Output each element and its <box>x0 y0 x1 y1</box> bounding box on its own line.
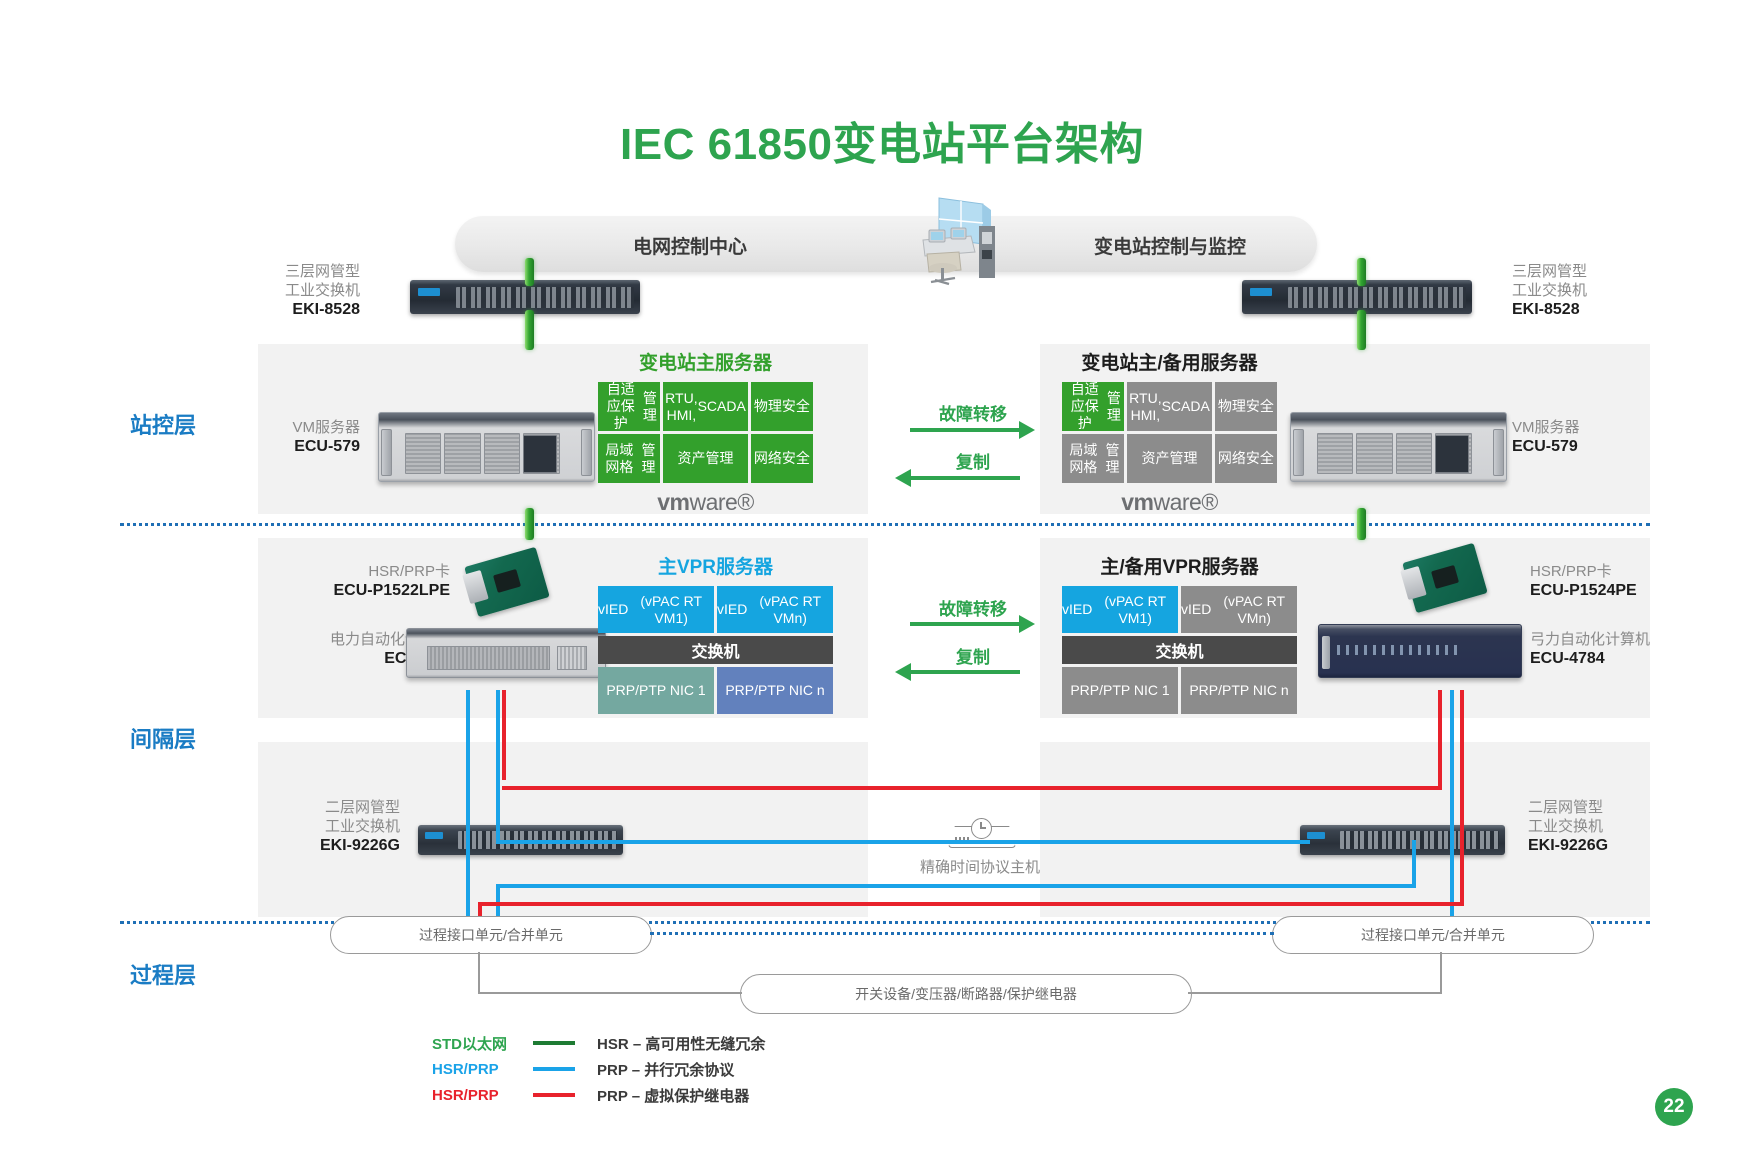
rack-ear <box>1322 636 1330 668</box>
nic-cell-1-right: PRP/PTP NIC 1 <box>1062 667 1178 714</box>
process-equipment-box: 开关设备/变压器/断路器/保护继电器 <box>740 974 1192 1014</box>
hsr-prp-card-right <box>1408 552 1482 604</box>
cable-red-upper-bus <box>502 786 1442 790</box>
process-interface-unit-right: 过程接口单元/合并单元 <box>1272 916 1594 954</box>
clock-face-icon <box>971 818 992 839</box>
cable-blue-left-vertical-2 <box>496 690 500 844</box>
station-server-title-left: 变电站主服务器 <box>598 348 813 375</box>
legend-line-swatch <box>533 1093 575 1097</box>
station-app-cell-2: RTU, HMI,SCADA <box>1127 382 1212 431</box>
rack-ear <box>381 429 392 475</box>
legend-row-3: HSR/PRPPRP – 虚拟保护继电器 <box>432 1082 765 1108</box>
device-label-eki9226g-right: 二层网管型 工业交换机 EKI-9226G <box>1528 798 1678 855</box>
station-app-cell-3: 物理安全 <box>1215 382 1277 431</box>
station-app-cell-3: 物理安全 <box>751 382 813 431</box>
legend: STD以太网HSR – 高可用性无缝冗余HSR/PRPPRP – 并行冗余协议H… <box>432 1030 765 1108</box>
port-array <box>1288 287 1466 308</box>
green-link-switch-right <box>1357 310 1366 350</box>
legend-row-1: STD以太网HSR – 高可用性无缝冗余 <box>432 1030 765 1056</box>
brand-mark <box>425 832 443 839</box>
legend-text: PRP – 虚拟保护继电器 <box>597 1085 749 1106</box>
hsr-prp-card-left <box>470 556 544 608</box>
status-panel <box>523 435 557 473</box>
bay-failover-arrow <box>910 622 1020 626</box>
brand-mark <box>1307 832 1325 839</box>
vied-cell-n-left: vIED(vPAC RT VMn) <box>717 586 833 633</box>
port-array <box>1340 831 1499 849</box>
link-unit-left-to-equipment-v <box>478 952 480 993</box>
device-label-eki8528-right: 三层网管型 工业交换机 EKI-8528 <box>1512 262 1652 319</box>
green-link-switch-left <box>525 310 534 350</box>
layer-label-process: 过程层 <box>130 958 196 990</box>
station-server-box-right: 变电站主/备用服务器 自适应保护管理RTU, HMI,SCADA物理安全局域网格… <box>1062 348 1277 516</box>
green-link-bay-left <box>525 508 534 540</box>
station-failover-arrow <box>910 428 1020 432</box>
station-app-cell-4: 局域网格管理 <box>1062 434 1124 483</box>
station-app-cell-4: 局域网格管理 <box>598 434 660 483</box>
vied-cell-1-left: vIED(vPAC RT VM1) <box>598 586 714 633</box>
vpr-switch-bar-left: 交换机 <box>598 636 833 664</box>
vpr-title-left: 主VPR服务器 <box>598 552 833 579</box>
station-app-cell-6: 网络安全 <box>751 434 813 483</box>
control-room-illustration <box>905 196 1015 286</box>
bay-replicate-label: 复制 <box>898 643 1048 668</box>
cable-red-right-riser <box>1438 690 1442 790</box>
device-label-ecu4784-right: 弓力自动化计算机 ECU-4784 <box>1530 630 1715 668</box>
link-unit-right-to-equipment-h <box>1188 992 1442 994</box>
legend-tag: HSR/PRP <box>432 1061 527 1078</box>
banner-label-substation-monitor: 变电站控制与监控 <box>1010 232 1330 259</box>
led-row <box>1337 645 1462 655</box>
cable-blue-right-vertical <box>1450 690 1454 920</box>
nic-cell-1-left: PRP/PTP NIC 1 <box>598 667 714 714</box>
banner-label-control-center: 电网控制中心 <box>560 232 820 259</box>
vpr-switch-bar-right: 交换机 <box>1062 636 1297 664</box>
device-label-nic-left: HSR/PRP卡 ECU-P1522LPE <box>300 562 450 600</box>
green-link-top-right <box>1357 258 1366 286</box>
switch-eki9226g-right <box>1300 825 1505 855</box>
port-array <box>456 287 634 308</box>
vpr-box-right: 主/备用VPR服务器 vIED(vPAC RT VM1) vIED(vPAC R… <box>1062 552 1297 714</box>
legend-row-2: HSR/PRPPRP – 并行冗余协议 <box>432 1056 765 1082</box>
cable-blue-left-to-switch <box>496 840 626 844</box>
server-ecu579-right <box>1290 412 1507 482</box>
cable-blue-lower-bus <box>496 884 1416 888</box>
station-server-cells-left: 自适应保护管理RTU, HMI,SCADA物理安全局域网格管理资产管理网络安全 <box>598 382 813 483</box>
legend-line-swatch <box>533 1041 575 1045</box>
station-server-title-right: 变电站主/备用服务器 <box>1062 348 1277 375</box>
station-app-cell-6: 网络安全 <box>1215 434 1277 483</box>
side-fins <box>557 646 587 670</box>
rack-ear <box>581 429 592 475</box>
brand-mark <box>1250 288 1272 296</box>
vpr-vied-row-right: vIED(vPAC RT VM1) vIED(vPAC RT VMn) <box>1062 586 1297 633</box>
legend-text: PRP – 并行冗余协议 <box>597 1059 734 1080</box>
station-app-cell-5: 资产管理 <box>663 434 748 483</box>
cable-blue-switch-interlink <box>620 840 1310 844</box>
computer-ecu4784-right <box>1318 624 1522 678</box>
station-app-cell-1: 自适应保护管理 <box>1062 382 1124 431</box>
vpr-vied-row-left: vIED(vPAC RT VM1) vIED(vPAC RT VMn) <box>598 586 833 633</box>
device-label-eki8528-left: 三层网管型 工业交换机 EKI-8528 <box>250 262 360 319</box>
station-replicate-arrow <box>910 476 1020 480</box>
bay-replicate-arrow <box>910 670 1020 674</box>
station-server-box-left: 变电站主服务器 自适应保护管理RTU, HMI,SCADA物理安全局域网格管理资… <box>598 348 813 516</box>
green-link-top-left <box>525 258 534 286</box>
rack-ear <box>1493 429 1504 475</box>
vpr-nic-row-right: PRP/PTP NIC 1 PRP/PTP NIC n <box>1062 667 1297 714</box>
device-label-ecu579-left: VM服务器 ECU-579 <box>250 418 360 456</box>
station-app-cell-1: 自适应保护管理 <box>598 382 660 431</box>
layer-label-station: 站控层 <box>130 408 196 440</box>
page-number-badge: 22 <box>1655 1088 1693 1126</box>
vied-cell-n-right: vIED(vPAC RT VMn) <box>1181 586 1297 633</box>
vmware-logo-left: vmware® <box>598 489 813 516</box>
station-app-cell-5: 资产管理 <box>1127 434 1212 483</box>
station-server-cells-right: 自适应保护管理RTU, HMI,SCADA物理安全局域网格管理资产管理网络安全 <box>1062 382 1277 483</box>
cable-blue-right-riser <box>1412 840 1416 888</box>
status-panel <box>1435 435 1469 473</box>
station-replicate-label: 复制 <box>898 448 1048 473</box>
link-unit-left-to-equipment-h <box>478 992 742 994</box>
computer-ecu479-left <box>406 628 606 678</box>
green-link-bay-right <box>1357 508 1366 540</box>
nic-cell-n-right: PRP/PTP NIC n <box>1181 667 1297 714</box>
cable-red-left-riser <box>502 690 506 780</box>
legend-tag: HSR/PRP <box>432 1087 527 1104</box>
link-unit-right-to-equipment-v <box>1440 952 1442 993</box>
device-label-ecu579-right: VM服务器 ECU-579 <box>1512 418 1652 456</box>
cable-blue-left-vertical <box>466 690 470 920</box>
cable-red-lower-bus <box>478 902 1464 906</box>
device-label-nic-right: HSR/PRP卡 ECU-P1524PE <box>1530 562 1700 600</box>
layer-label-bay: 间隔层 <box>130 722 196 754</box>
nic-cell-n-left: PRP/PTP NIC n <box>717 667 833 714</box>
process-interface-unit-left: 过程接口单元/合并单元 <box>330 916 652 954</box>
ptp-label: 精确时间协议主机 <box>880 856 1080 877</box>
server-ecu579-left <box>378 412 595 482</box>
vent-grill <box>427 646 550 670</box>
vpr-box-left: 主VPR服务器 vIED(vPAC RT VM1) vIED(vPAC RT V… <box>598 552 833 714</box>
vpr-title-right: 主/备用VPR服务器 <box>1062 552 1297 579</box>
vmware-logo-right: vmware® <box>1062 489 1277 516</box>
rack-ear <box>1293 429 1304 475</box>
device-label-eki9226g-left: 二层网管型 工业交换机 EKI-9226G <box>270 798 400 855</box>
process-bus-dotted-link <box>650 932 1274 935</box>
station-app-cell-2: RTU, HMI,SCADA <box>663 382 748 431</box>
vpr-nic-row-left: PRP/PTP NIC 1 PRP/PTP NIC n <box>598 667 833 714</box>
legend-tag: STD以太网 <box>432 1033 527 1054</box>
brand-mark <box>418 288 440 296</box>
vied-cell-1-right: vIED(vPAC RT VM1) <box>1062 586 1178 633</box>
legend-line-swatch <box>533 1067 575 1071</box>
legend-text: HSR – 高可用性无缝冗余 <box>597 1033 765 1054</box>
page-title: IEC 61850变电站平台架构 <box>0 108 1764 172</box>
cable-red-right-drop <box>1460 690 1464 906</box>
separator-station-bay <box>120 523 1650 526</box>
